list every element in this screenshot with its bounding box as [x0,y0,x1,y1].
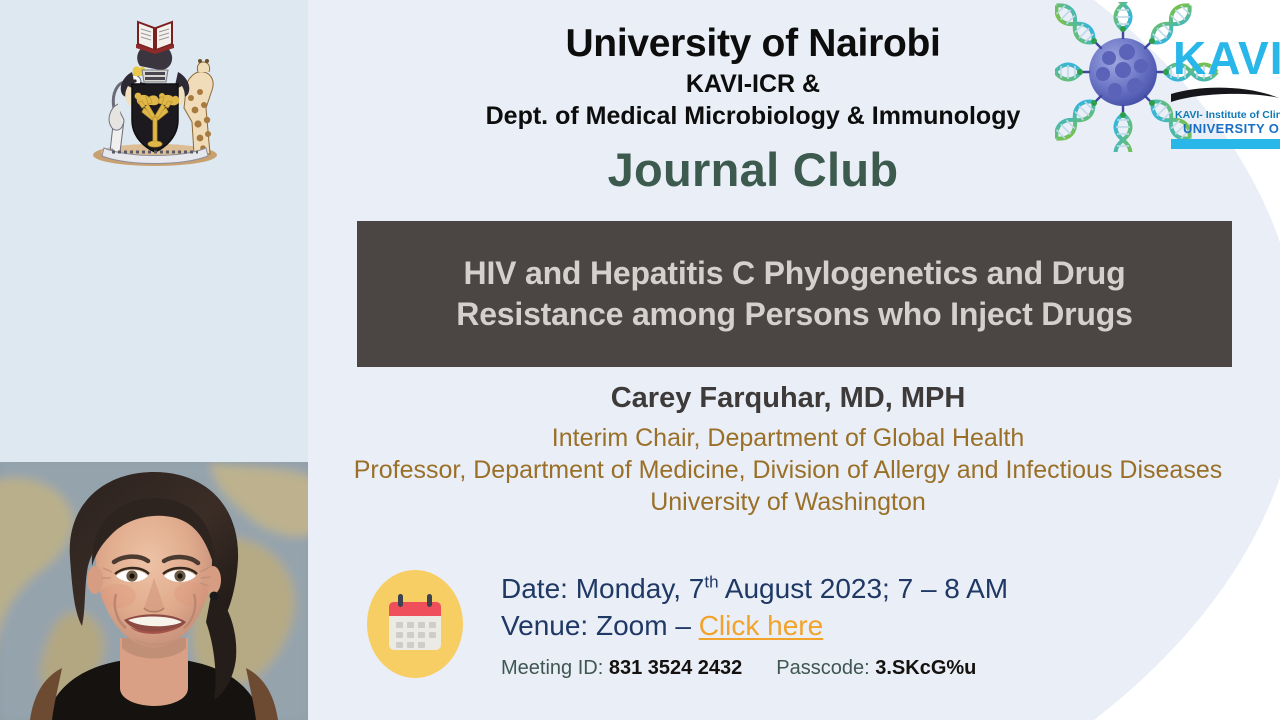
speaker-block: Carey Farquhar, MD, MPH Interim Chair, D… [308,381,1268,518]
meeting-id-label: Meeting ID: [501,657,603,679]
event-text-group: Date: Monday, 7th August 2023; 7 – 8 AM … [501,565,1008,680]
topic-line-2: Resistance among Persons who Inject Drug… [456,296,1132,332]
passcode-label: Passcode: [776,657,869,679]
header-block: University of Nairobi KAVI-ICR & Dept. o… [308,22,1198,197]
calendar-icon [365,568,465,680]
topic-line-1: HIV and Hepatitis C Phylogenetics and Dr… [464,255,1126,291]
event-date-line: Date: Monday, 7th August 2023; 7 – 8 AM [501,570,1008,607]
organization-subtitle-kavi: KAVI-ICR & [308,69,1198,99]
event-date-prefix: Date: Monday, 7 [501,573,704,604]
speaker-name: Carey Farquhar, MD, MPH [308,381,1268,416]
meeting-credentials-line: Meeting ID: 831 3524 2432Passcode: 3.SKc… [501,657,1008,680]
event-venue-line: Venue: Zoom – Click here [501,607,1008,644]
passcode-value[interactable]: 3.SKcG%u [875,657,976,679]
speaker-affiliation-line-1: Interim Chair, Department of Global Heal… [308,422,1268,454]
event-date-suffix: August 2023; 7 – 8 AM [719,573,1009,604]
university-of-nairobi-crest-logo [76,12,234,170]
organization-title: University of Nairobi [308,22,1198,66]
speaker-portrait-photo [0,462,308,720]
meeting-id-value[interactable]: 831 3524 2432 [609,657,742,679]
event-details-block: Date: Monday, 7th August 2023; 7 – 8 AM … [365,565,1165,680]
zoom-meeting-link[interactable]: Click here [699,610,823,641]
event-venue-prefix: Venue: Zoom – [501,610,699,641]
slide-canvas: KAVI-ICR KAVI- Institute of Clinical Res… [0,0,1280,720]
event-date-ordinal: th [704,573,718,592]
organization-subtitle-department: Dept. of Medical Microbiology & Immunolo… [308,101,1198,131]
speaker-affiliation-line-3: University of Washington [308,486,1268,518]
speaker-affiliation-line-2: Professor, Department of Medicine, Divis… [308,454,1268,486]
presentation-topic-banner: HIV and Hepatitis C Phylogenetics and Dr… [357,221,1232,367]
event-type-title: Journal Club [308,143,1198,197]
presentation-topic-text: HIV and Hepatitis C Phylogenetics and Dr… [440,253,1148,335]
